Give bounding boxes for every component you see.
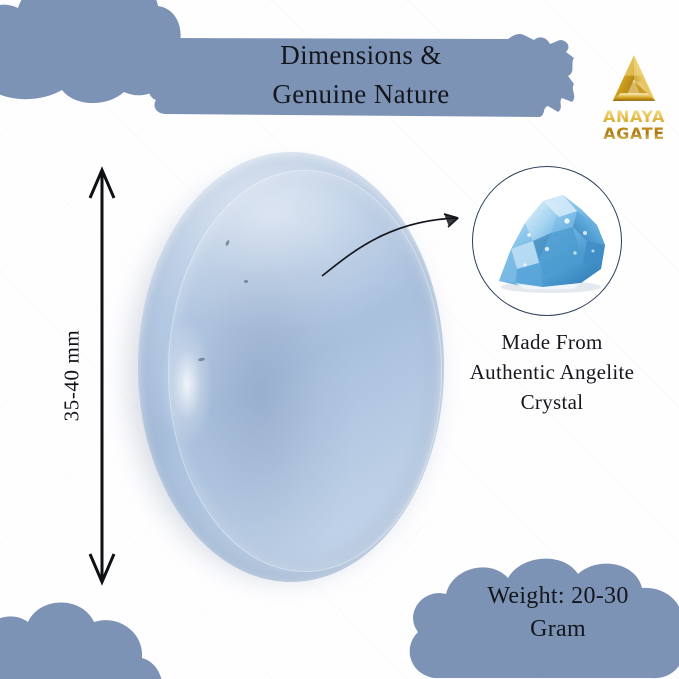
caption-line-2: Authentic Angelite bbox=[432, 358, 672, 388]
product-caption: Made From Authentic Angelite Crystal bbox=[432, 328, 672, 417]
raw-angelite-crystal-image bbox=[481, 183, 615, 301]
title-banner: Dimensions & Genuine Nature bbox=[142, 24, 580, 126]
triangle-logo-icon bbox=[603, 52, 665, 107]
caption-line-3: Crystal bbox=[432, 388, 672, 418]
brand-name-line-2: AGATE bbox=[603, 126, 665, 143]
weight-badge: Weight: 20-30 Gram bbox=[398, 552, 679, 679]
brand-wordmark: ANAYA AGATE bbox=[603, 109, 665, 142]
infographic-canvas: Dimensions & Genuine Nature bbox=[0, 0, 679, 679]
inset-circle-raw-crystal bbox=[472, 166, 622, 316]
weight-line-2: Gram bbox=[444, 613, 672, 646]
weight-line-1: Weight: 20-30 bbox=[444, 580, 672, 613]
curved-pointer-arrow bbox=[302, 196, 484, 282]
dimension-value: 35-40 mm bbox=[60, 329, 85, 421]
title-line-1: Dimensions & bbox=[280, 38, 442, 73]
weight-text: Weight: 20-30 Gram bbox=[444, 580, 672, 645]
page-title: Dimensions & Genuine Nature bbox=[142, 24, 580, 126]
dimension-label: 35-40 mm bbox=[54, 300, 90, 450]
brand-logo: ANAYA AGATE bbox=[592, 52, 676, 152]
title-line-2: Genuine Nature bbox=[272, 77, 449, 112]
cabochon-inclusion bbox=[244, 280, 248, 283]
caption-line-1: Made From bbox=[432, 328, 672, 358]
